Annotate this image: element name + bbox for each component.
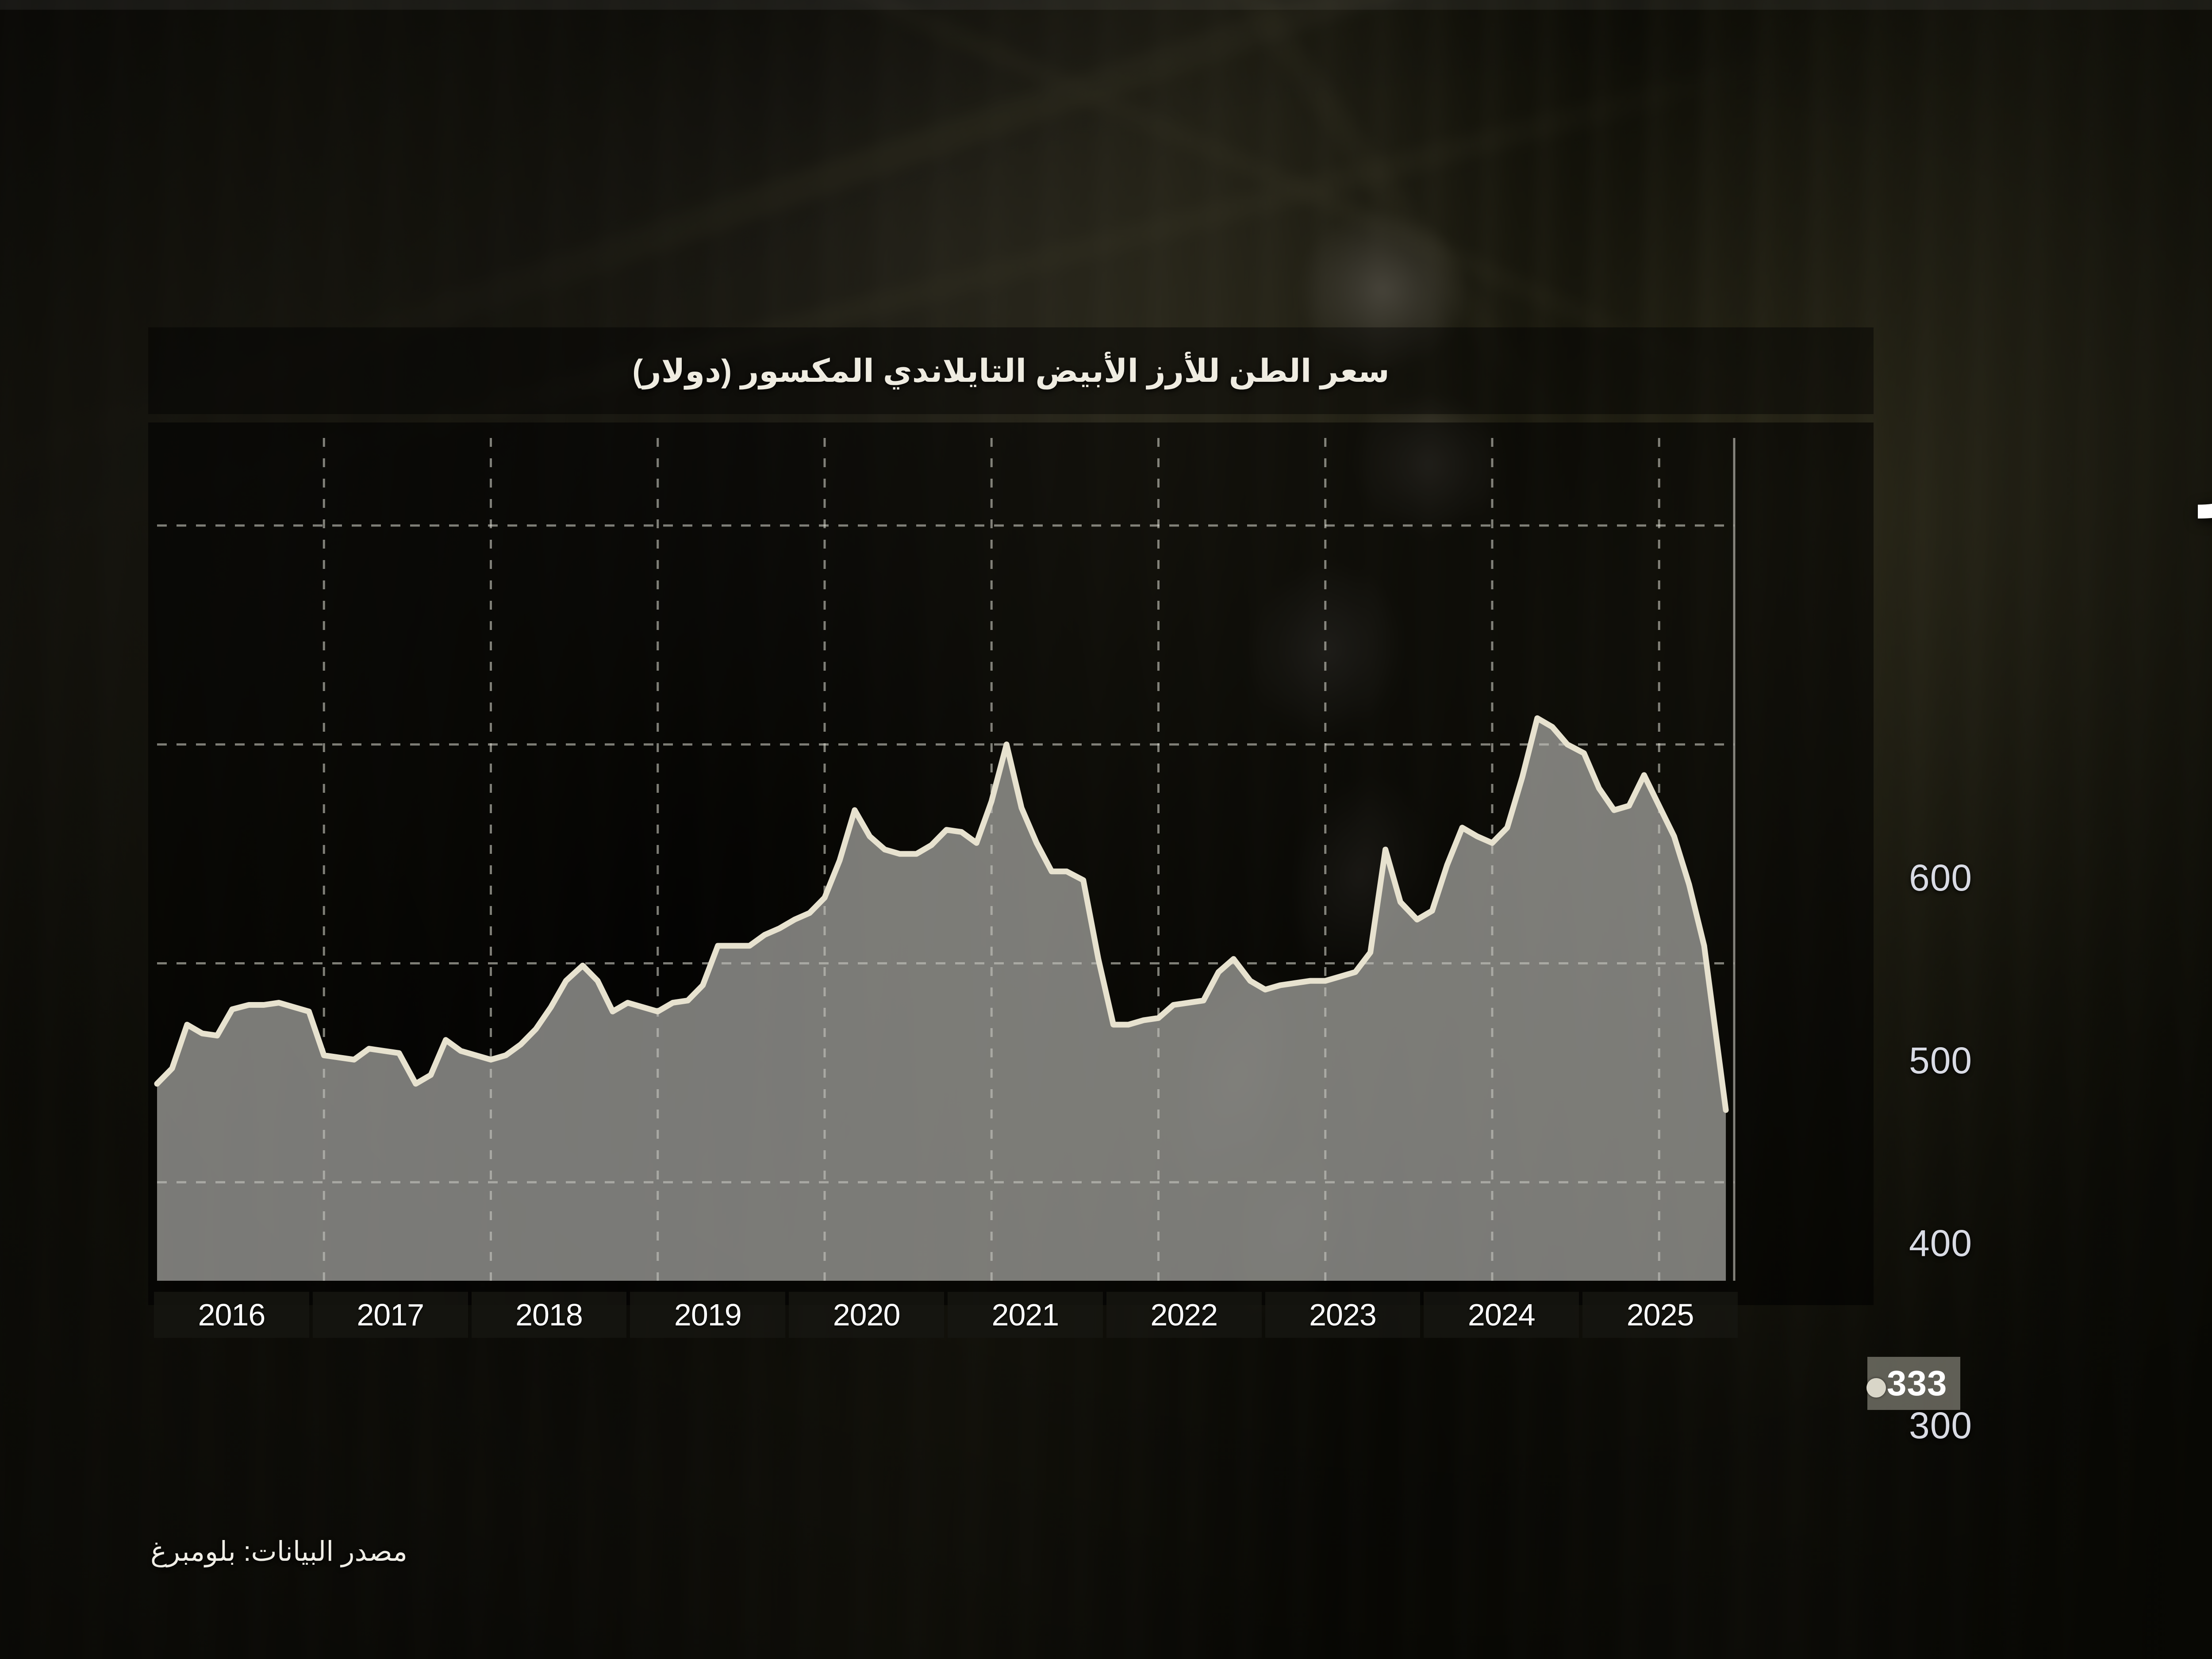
y-axis-label-300: 300 [1909, 1404, 1972, 1447]
x-axis-label-text: 2016 [198, 1297, 265, 1333]
y-axis-label-400: 400 [1909, 1222, 1972, 1265]
x-axis-labels: 2016201720182019202020212022202320242025 [154, 1292, 1738, 1338]
latest-value-marker-dot [1866, 1378, 1886, 1398]
chart-title-bar: سعر الطن للأرز الأبيض التايلاندي المكسور… [148, 327, 1874, 414]
x-axis-chip-2017: 2017 [313, 1292, 468, 1338]
x-axis-chip-2023: 2023 [1265, 1292, 1421, 1338]
x-axis-label-text: 2023 [1309, 1297, 1376, 1333]
headline-line-3: مستويـاتها [1913, 669, 2212, 813]
top-band [0, 0, 2212, 10]
infographic-canvas: سعر الطن للأرز الأبيض التايلاندي المكسور… [0, 0, 2212, 1659]
x-axis-chip-2018: 2018 [472, 1292, 627, 1338]
headline: أسعـار الأرز تهبط لأدنى مستويـاتها في 8 … [1913, 381, 2212, 956]
chart-title: سعر الطن للأرز الأبيض التايلاندي المكسور… [632, 352, 1389, 389]
x-axis-chip-2025: 2025 [1582, 1292, 1738, 1338]
latest-value-text: 333 [1887, 1363, 1947, 1403]
x-axis-label-text: 2021 [992, 1297, 1059, 1333]
x-axis-chip-2021: 2021 [948, 1292, 1103, 1338]
headline-line-4: في 8 أعوام [1913, 813, 2212, 956]
x-axis-chip-2016: 2016 [154, 1292, 309, 1338]
x-axis-chip-2022: 2022 [1106, 1292, 1262, 1338]
x-axis-label-text: 2022 [1150, 1297, 1217, 1333]
headline-line-1: أسعـار الأرز [1913, 381, 2212, 525]
x-axis-chip-2020: 2020 [789, 1292, 944, 1338]
x-axis-label-text: 2018 [515, 1297, 583, 1333]
series-area-fill [157, 718, 1726, 1281]
x-axis-label-text: 2025 [1627, 1297, 1694, 1333]
x-axis-chip-2019: 2019 [630, 1292, 785, 1338]
headline-line-2: تهبط لأدنى [1913, 525, 2212, 669]
x-axis-label-text: 2020 [833, 1297, 900, 1333]
data-source-note: مصدر البيانات: بلومبرغ [150, 1535, 407, 1567]
x-axis-label-text: 2019 [674, 1297, 741, 1333]
y-axis-label-500: 500 [1909, 1039, 1972, 1082]
plot-area [157, 438, 1734, 1281]
chart-svg [157, 438, 1734, 1281]
x-axis-label-text: 2017 [357, 1297, 424, 1333]
x-axis-label-text: 2024 [1468, 1297, 1535, 1333]
chart-panel: سعر الطن للأرز الأبيض التايلاندي المكسور… [148, 327, 1874, 1307]
x-axis-chip-2024: 2024 [1424, 1292, 1579, 1338]
